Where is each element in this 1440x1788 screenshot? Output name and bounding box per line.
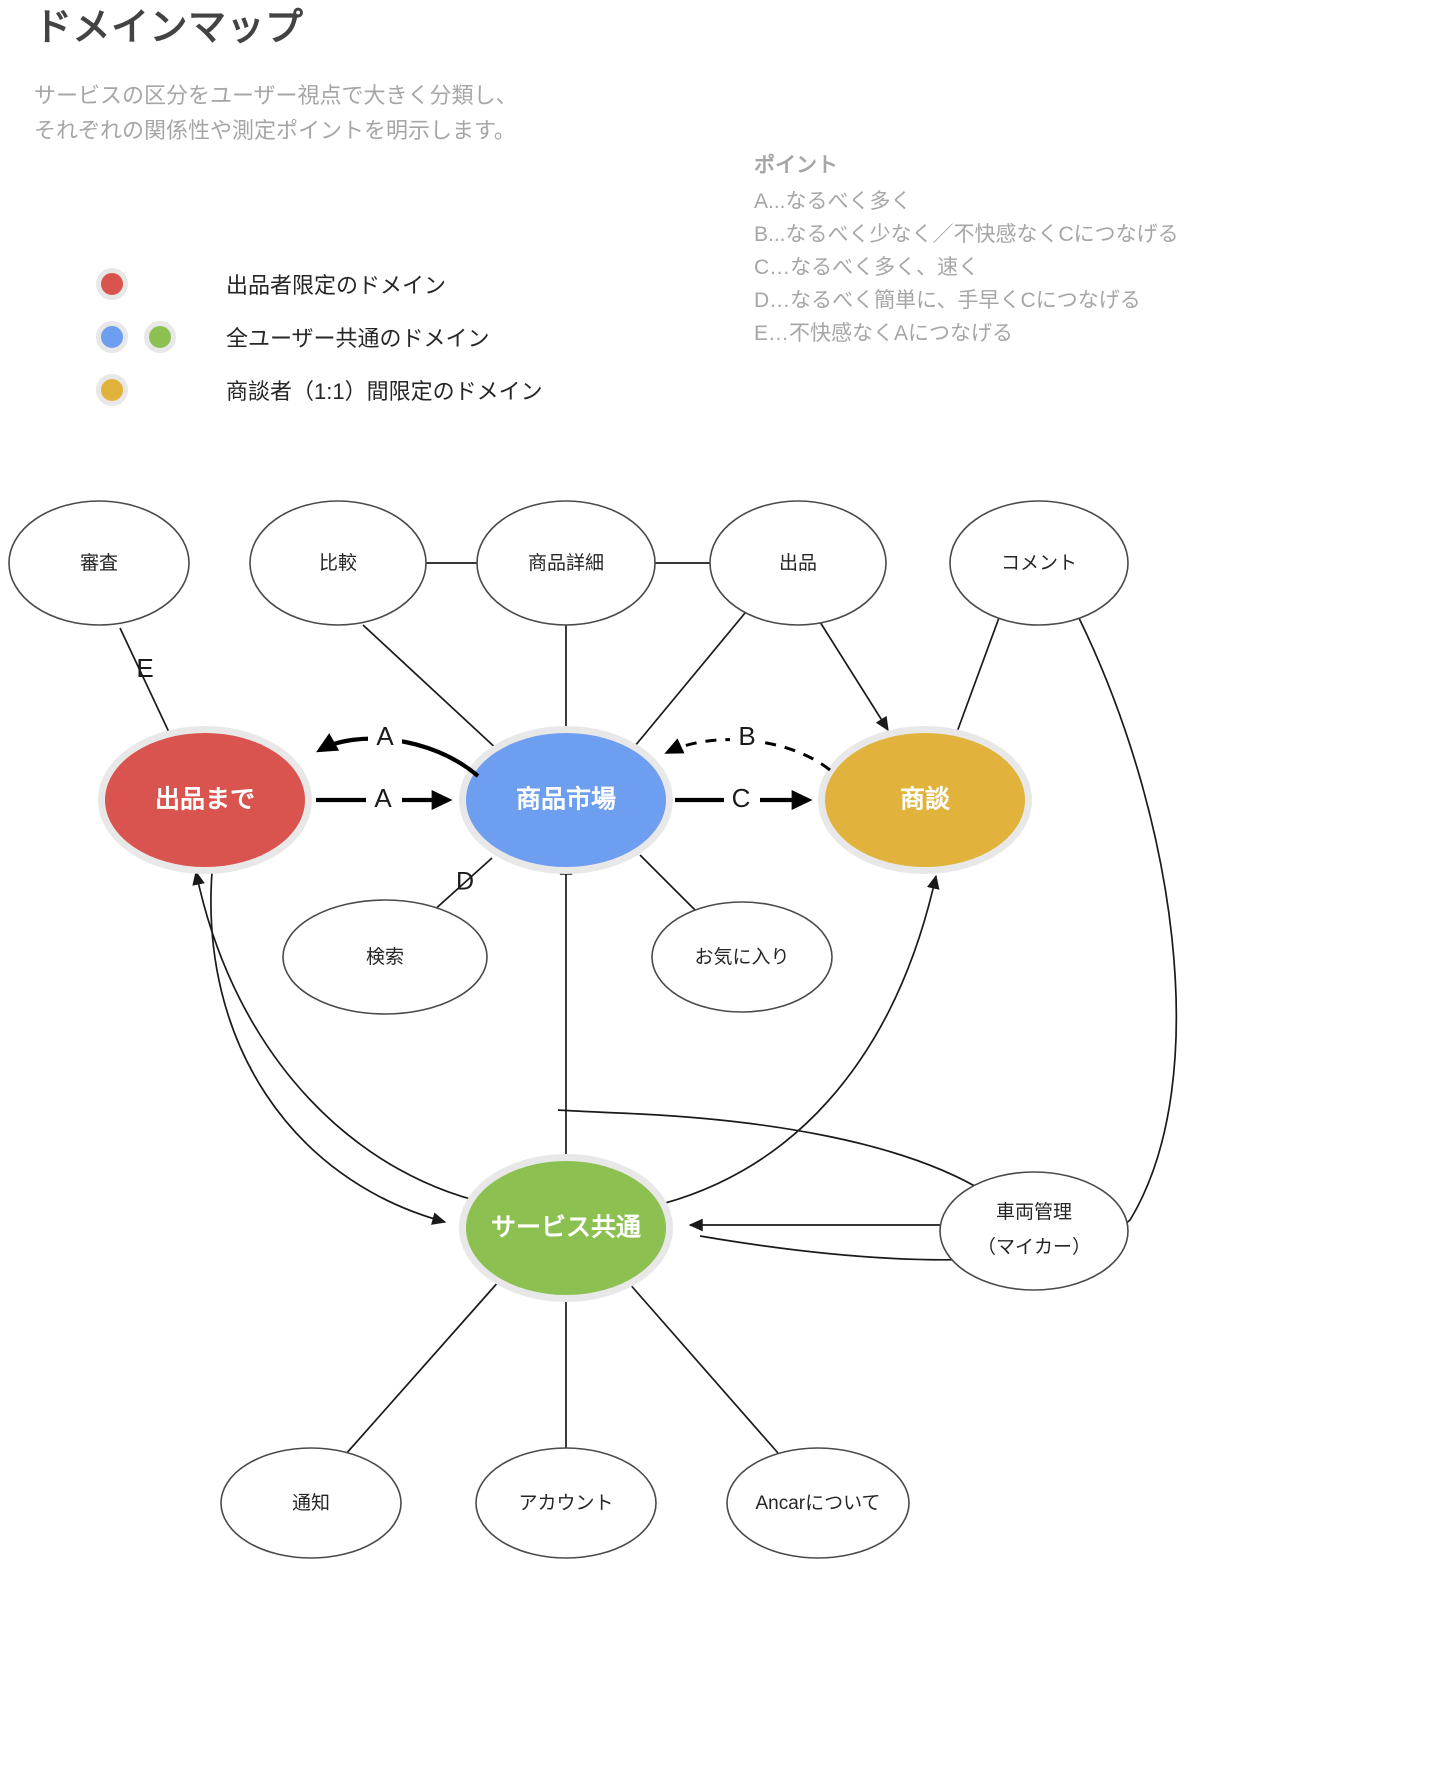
- node-sharyo-kanri-label-line2: （マイカー）: [977, 1236, 1091, 1258]
- node-ancar-ni-tsuite-label: Ancarについて: [755, 1493, 880, 1514]
- legend-swatch-green: [144, 321, 176, 353]
- node-kensaku-label: 検索: [366, 946, 404, 968]
- node-service-kyotsu[interactable]: サービス共通: [459, 1154, 673, 1302]
- point-line-a: A...なるべく多く: [754, 185, 1354, 218]
- legend-swatch-yellow: [96, 374, 128, 406]
- legend-swatches-common: [96, 321, 226, 353]
- edge-shinsa-to-shuppinmade: [120, 628, 175, 745]
- subtitle-line-1: サービスの区分をユーザー視点で大きく分類し、: [34, 78, 734, 113]
- node-tsuchi[interactable]: 通知: [221, 1448, 401, 1558]
- node-shohin-shosai[interactable]: 商品詳細: [477, 501, 655, 625]
- node-account-label: アカウント: [518, 1493, 613, 1514]
- node-okiniiri-label: お気に入り: [694, 946, 789, 968]
- node-comment[interactable]: コメント: [950, 501, 1128, 625]
- node-hikaku-label: 比較: [319, 552, 357, 574]
- node-sharyo-kanri[interactable]: 車両管理 （マイカー）: [940, 1172, 1128, 1290]
- legend-label-negotiation-domain: 商談者（1:1）間限定のドメイン: [226, 374, 543, 406]
- node-sharyo-kanri-label-line1: 車両管理: [996, 1201, 1072, 1223]
- node-shuppin-made-label: 出品まで: [155, 786, 255, 814]
- legend-swatches-negotiation: [96, 374, 226, 406]
- legend-label-seller-domain: 出品者限定のドメイン: [226, 268, 446, 300]
- legend-swatch-blue: [96, 321, 128, 353]
- node-shinsa-label: 審査: [80, 552, 118, 574]
- node-okiniiri[interactable]: お気に入り: [652, 902, 832, 1012]
- edge-label-c-top: C: [732, 783, 751, 813]
- legend-swatch-red: [96, 268, 128, 300]
- node-shuppin[interactable]: 出品: [710, 501, 886, 625]
- subtitle-line-2: それぞれの関係性や測定ポイントを明示します。: [34, 113, 734, 148]
- edge-label-e: E: [136, 653, 153, 683]
- node-shohin-shijo[interactable]: 商品市場: [459, 726, 673, 874]
- legend-swatches-seller: [96, 268, 226, 300]
- edge-servicekyotsu-to-ancar: [628, 1282, 778, 1453]
- edge-label-a-mid-top: A: [374, 783, 392, 813]
- edge-comment-to-shodan: [957, 615, 1000, 732]
- node-comment-label: コメント: [1001, 553, 1077, 574]
- legend-row-common-domain: 全ユーザー共通のドメイン: [96, 311, 716, 363]
- points-heading: ポイント: [754, 150, 1354, 183]
- edge-shuppin-to-shodan: [820, 622, 888, 730]
- node-shohin-shosai-label: 商品詳細: [528, 552, 604, 574]
- domain-map-diagram: 審査 比較 商品詳細 出品 コメント 検索 お気に入り 車両管理: [0, 480, 1440, 1788]
- edge-label-b-top: B: [738, 721, 755, 751]
- legend: 出品者限定のドメイン 全ユーザー共通のドメイン 商談者（1:1）間限定のドメイン: [96, 258, 716, 417]
- edge-shuppin-to-shohinshijo: [630, 613, 745, 752]
- point-line-d: D…なるべく簡単に、手早くCにつなげる: [754, 284, 1354, 317]
- node-shodan[interactable]: 商談: [818, 726, 1032, 874]
- edge-group-thin: [120, 563, 1176, 1455]
- header: ドメインマップ サービスの区分をユーザー視点で大きく分類し、 それぞれの関係性や…: [34, 6, 734, 148]
- node-kensaku[interactable]: 検索: [283, 900, 487, 1014]
- sub-node-group: 審査 比較 商品詳細 出品 コメント 検索 お気に入り 車両管理: [9, 501, 1128, 1558]
- node-service-kyotsu-label: サービス共通: [491, 1214, 641, 1242]
- point-line-c: C…なるべく多く、速く: [754, 251, 1354, 284]
- legend-row-negotiation-domain: 商談者（1:1）間限定のドメイン: [96, 364, 716, 416]
- edge-label-d: D: [456, 868, 474, 896]
- node-hikaku[interactable]: 比較: [250, 501, 426, 625]
- node-shinsa[interactable]: 審査: [9, 501, 189, 625]
- point-line-b: B...なるべく少なく／不快感なくCにつなげる: [754, 218, 1354, 251]
- node-tsuchi-label: 通知: [292, 1492, 330, 1514]
- node-shodan-label: 商談: [900, 785, 951, 814]
- node-shuppin-label: 出品: [779, 552, 817, 574]
- legend-label-common-domain: 全ユーザー共通のドメイン: [226, 321, 490, 353]
- page-title: ドメインマップ: [34, 6, 734, 52]
- main-node-group: 出品まで 商品市場 商談 サービス共通: [98, 726, 1032, 1302]
- edge-label-a-top-top: A: [376, 721, 394, 751]
- node-shohin-shijo-label: 商品市場: [516, 785, 616, 814]
- node-shuppin-made[interactable]: 出品まで: [98, 726, 312, 874]
- node-account[interactable]: アカウント: [476, 1448, 656, 1558]
- node-ancar-ni-tsuite[interactable]: Ancarについて: [727, 1448, 909, 1558]
- edge-okiniiri-to-shohinshijo: [640, 855, 700, 915]
- legend-row-seller-domain: 出品者限定のドメイン: [96, 258, 716, 310]
- point-line-e: E…不快感なくAにつなげる: [754, 317, 1354, 350]
- points-block: ポイント A...なるべく多く B...なるべく少なく／不快感なくCにつなげる …: [754, 150, 1354, 350]
- edge-servicekyotsu-to-tsuchi: [345, 1280, 500, 1455]
